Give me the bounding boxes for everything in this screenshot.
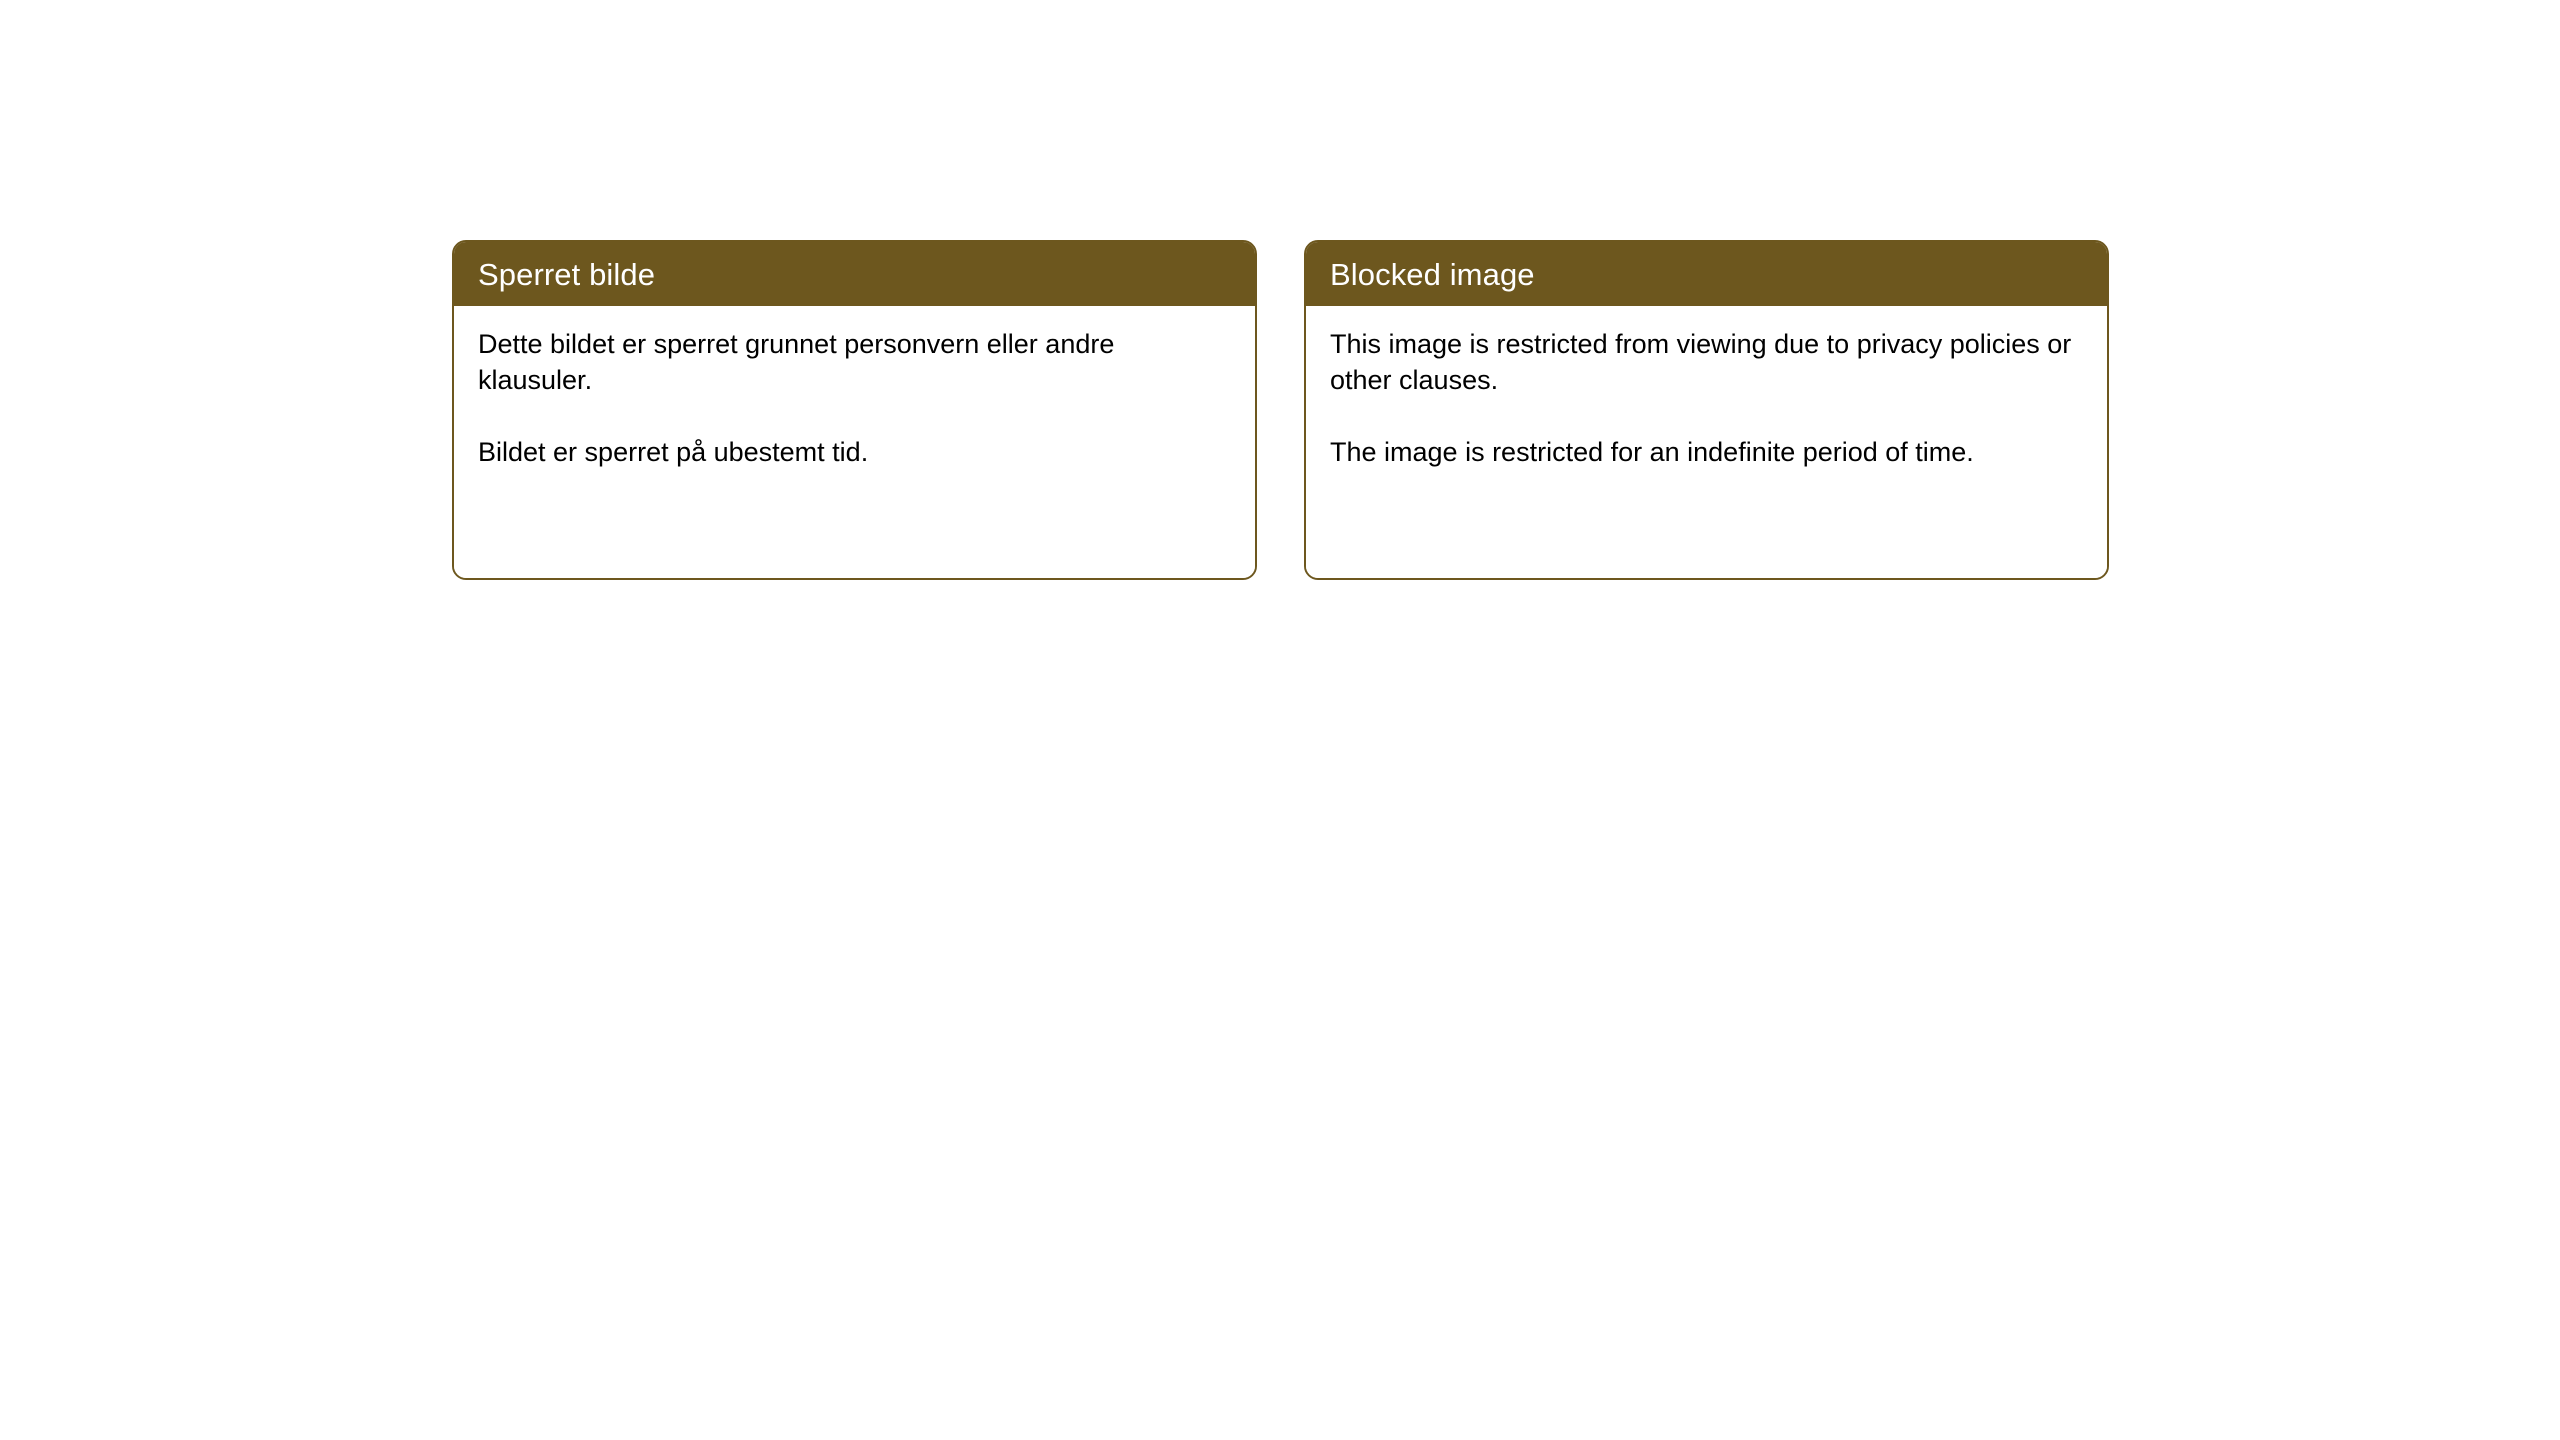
panel-paragraph-primary-english: This image is restricted from viewing du…: [1330, 326, 2083, 398]
panel-body-norwegian: Dette bildet er sperret grunnet personve…: [454, 306, 1255, 578]
panel-body-english: This image is restricted from viewing du…: [1306, 306, 2107, 578]
panel-paragraph-secondary-norwegian: Bildet er sperret på ubestemt tid.: [478, 434, 1231, 470]
panel-paragraph-secondary-english: The image is restricted for an indefinit…: [1330, 434, 2083, 470]
blocked-image-panel-norwegian: Sperret bilde Dette bildet er sperret gr…: [452, 240, 1257, 580]
panel-title-english: Blocked image: [1330, 259, 1535, 290]
panel-header-norwegian: Sperret bilde: [454, 242, 1255, 306]
panel-header-english: Blocked image: [1306, 242, 2107, 306]
blocked-image-notice-group: Sperret bilde Dette bildet er sperret gr…: [452, 240, 2109, 580]
blocked-image-panel-english: Blocked image This image is restricted f…: [1304, 240, 2109, 580]
panel-paragraph-primary-norwegian: Dette bildet er sperret grunnet personve…: [478, 326, 1231, 398]
panel-title-norwegian: Sperret bilde: [478, 259, 655, 290]
